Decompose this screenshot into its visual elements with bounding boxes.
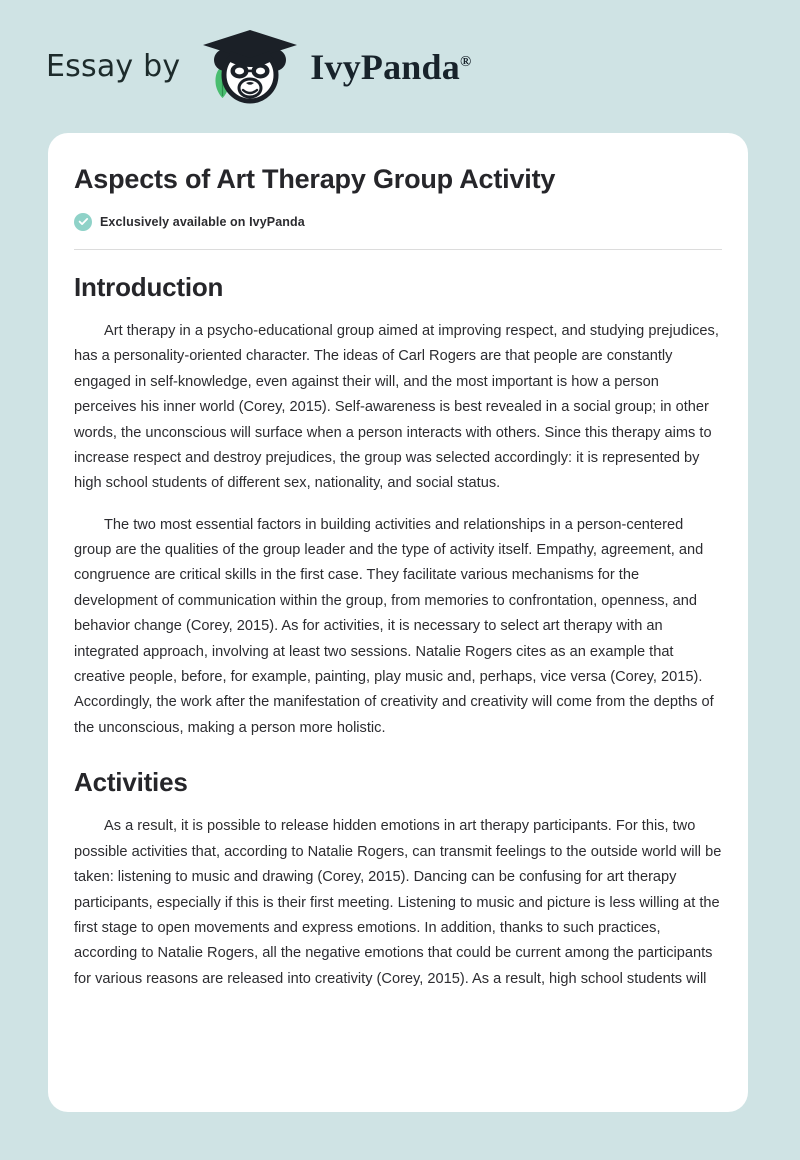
check-circle-icon [74, 213, 92, 231]
brand-name-text: IvyPanda [310, 47, 460, 87]
registered-trademark-icon: ® [460, 54, 471, 70]
ivypanda-logo[interactable]: IvyPanda® [196, 28, 471, 106]
status-badge: Exclusively available on IvyPanda [74, 213, 722, 231]
paragraph: Art therapy in a psycho-educational grou… [74, 319, 722, 497]
brand-header: Essay by [0, 0, 800, 133]
page-title: Aspects of Art Therapy Group Activity [74, 163, 722, 197]
panda-graduate-logo-icon [196, 28, 310, 106]
title-divider [74, 249, 722, 250]
status-badge-label: Exclusively available on IvyPanda [100, 215, 305, 229]
section-heading-activities: Activities [74, 767, 722, 798]
essay-by-label: Essay by [46, 52, 180, 82]
essay-paper-card: Aspects of Art Therapy Group Activity Ex… [48, 133, 748, 1112]
section-heading-introduction: Introduction [74, 272, 722, 303]
brand-wordmark: IvyPanda® [310, 49, 471, 85]
paragraph: The two most essential factors in buildi… [74, 513, 722, 742]
paragraph: As a result, it is possible to release h… [74, 814, 722, 992]
